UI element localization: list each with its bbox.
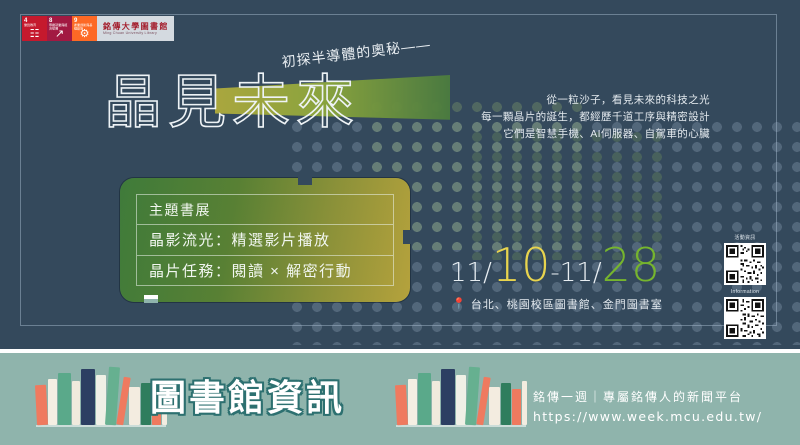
library-logo: 銘傳大學圖書館 Ming Chuan University Library — [97, 16, 174, 41]
chip-card-row-2: 晶影流光：精選影片播放 — [137, 225, 393, 255]
sdg-4-label: 優質教育 — [24, 24, 43, 27]
qr-code-column: 活動資訊 — [722, 234, 768, 343]
books-illustration-left — [36, 365, 166, 427]
date-start-day: 10 — [492, 238, 551, 292]
qr-information-caption: Information — [722, 289, 768, 295]
poster-title: 晶見未來 — [104, 72, 360, 132]
qr-information[interactable]: Information — [722, 289, 768, 339]
book — [418, 373, 431, 425]
book — [432, 381, 440, 425]
sdg-8-glyph: ↗ — [47, 29, 72, 40]
book — [129, 387, 140, 425]
qr-activity-info[interactable]: 活動資訊 — [722, 234, 768, 285]
bottom-bar: 圖書館資訊 銘傳一週｜專屬銘傳人的新聞平台 https://www.week.m… — [0, 349, 800, 445]
poster-description: 從一粒沙子，看見未來的科技之光 每一顆晶片的誕生，都經歷千道工序與精密設計 它們… — [400, 92, 710, 143]
chip-notch-bottom — [144, 295, 158, 303]
qr-activity-info-image[interactable] — [724, 243, 766, 285]
chip-notch-top — [298, 177, 312, 185]
date-separator: -11/ — [550, 258, 601, 288]
sdg-8-icon: 8 尊嚴就業與經濟發展 ↗ — [47, 16, 72, 41]
book — [501, 383, 511, 425]
event-venue: 📍 台北、桃園校區圖書館、金門圖書室 — [452, 296, 663, 312]
description-line-2: 每一顆晶片的誕生，都經歷千道工序與精密設計 — [400, 109, 710, 126]
bottom-bar-url[interactable]: https://www.week.mcu.edu.tw/ — [533, 407, 762, 426]
book — [522, 381, 527, 425]
shelf-base-right — [396, 425, 526, 427]
bottom-bar-title: 圖書館資訊 — [150, 377, 345, 419]
event-date-range: 11/10-11/28 — [450, 243, 660, 295]
qr-information-image[interactable] — [724, 297, 766, 339]
chip-card-rows: 主題書展 晶影流光：精選影片播放 晶片任務：閱讀 × 解密行動 — [136, 194, 394, 286]
qr-activity-info-caption: 活動資訊 — [722, 234, 768, 241]
bottom-bar-info: 銘傳一週｜專屬銘傳人的新聞平台 https://www.week.mcu.edu… — [533, 387, 762, 426]
book — [81, 369, 95, 425]
chip-card-row-3: 晶片任務：閱讀 × 解密行動 — [137, 256, 393, 285]
chip-notch-right — [403, 230, 411, 244]
sdg-4-glyph: ☷ — [22, 29, 47, 40]
book — [489, 387, 500, 425]
book — [58, 373, 71, 425]
library-logo-cn: 銘傳大學圖書館 — [103, 22, 169, 31]
book — [35, 385, 48, 426]
poster-main-panel: 4 優質教育 ☷ 8 尊嚴就業與經濟發展 ↗ 9 產業創新與基礎設施 ⚙ 銘傳大… — [0, 0, 800, 345]
logo-strip: 4 優質教育 ☷ 8 尊嚴就業與經濟發展 ↗ 9 產業創新與基礎設施 ⚙ 銘傳大… — [22, 16, 174, 41]
description-line-3: 它們是智慧手機、AI伺服器、自駕車的心臟 — [400, 126, 710, 143]
bottom-bar-tagline: 銘傳一週｜專屬銘傳人的新聞平台 — [533, 387, 762, 407]
library-logo-en: Ming Chuan University Library — [103, 31, 169, 36]
chip-card-row-1: 主題書展 — [137, 195, 393, 225]
date-end-day: 28 — [602, 238, 661, 292]
poster-root: 4 優質教育 ☷ 8 尊嚴就業與經濟發展 ↗ 9 產業創新與基礎設施 ⚙ 銘傳大… — [0, 0, 800, 445]
shelf-base-left — [36, 425, 166, 427]
book — [72, 381, 80, 425]
book — [408, 379, 417, 425]
sdg-4-icon: 4 優質教育 ☷ — [22, 16, 47, 41]
sdg-9-icon: 9 產業創新與基礎設施 ⚙ — [72, 16, 97, 41]
event-venue-label: 台北、桃園校區圖書館、金門圖書室 — [471, 296, 663, 312]
books-illustration-right — [396, 365, 526, 427]
book — [48, 379, 57, 425]
sdg-9-glyph: ⚙ — [72, 29, 97, 40]
location-pin-icon: 📍 — [452, 299, 467, 310]
book — [395, 385, 408, 426]
chip-card: 主題書展 晶影流光：精選影片播放 晶片任務：閱讀 × 解密行動 — [120, 178, 410, 302]
description-line-1: 從一粒沙子，看見未來的科技之光 — [400, 92, 710, 109]
book — [441, 369, 455, 425]
date-start-month: 11/ — [450, 258, 492, 288]
book — [512, 389, 521, 425]
chip-card-body: 主題書展 晶影流光：精選影片播放 晶片任務：閱讀 × 解密行動 — [120, 178, 410, 302]
